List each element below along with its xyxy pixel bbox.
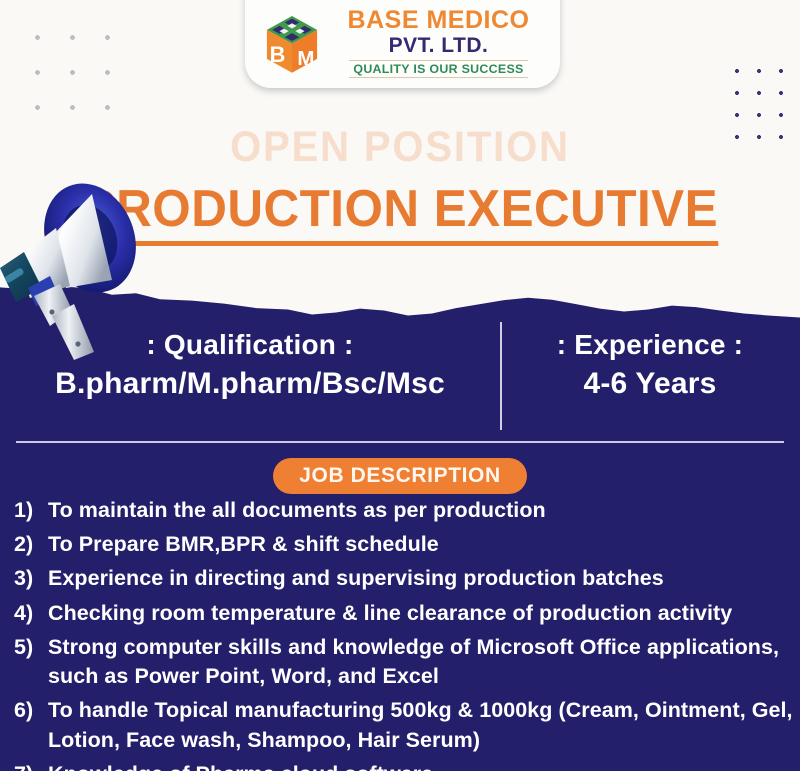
company-name-line1: BASE MEDICO [348, 8, 530, 34]
decorative-dot-grid-left [14, 14, 134, 124]
experience-column: : Experience : 4-6 Years [500, 320, 800, 404]
column-divider [500, 322, 502, 430]
list-item: 1)To maintain the all documents as per p… [14, 496, 794, 525]
list-item-text: Experience in directing and supervising … [48, 564, 794, 593]
requirements-row: : Qualification : B.pharm/M.pharm/Bsc/Ms… [0, 320, 800, 425]
list-item-number: 1) [14, 496, 48, 525]
list-item: 4)Checking room temperature & line clear… [14, 599, 794, 628]
list-item: 7)Knowledge of Pharma cloud software [14, 760, 794, 771]
job-description-badge-wrap: JOB DESCRIPTION [0, 458, 800, 494]
isometric-cube-bm-icon: B M [259, 12, 325, 78]
list-item-number: 6) [14, 696, 48, 754]
list-item-text: Knowledge of Pharma cloud software [48, 760, 794, 771]
list-item-number: 7) [14, 760, 48, 771]
list-item: 5)Strong computer skills and knowledge o… [14, 633, 794, 691]
svg-text:M: M [297, 47, 314, 70]
qualification-value: B.pharm/M.pharm/Bsc/Msc [0, 364, 500, 405]
qualification-label: : Qualification : [0, 326, 500, 364]
company-name-line2: PVT. LTD. [389, 34, 489, 57]
list-item-number: 3) [14, 564, 48, 593]
company-logo-text: BASE MEDICO PVT. LTD. QUALITY IS OUR SUC… [331, 8, 546, 80]
list-item-number: 5) [14, 633, 48, 691]
job-posting-poster: B M BASE MEDICO PVT. LTD. QUALITY IS OUR… [0, 0, 800, 771]
list-item-number: 4) [14, 599, 48, 628]
experience-label: : Experience : [500, 326, 800, 364]
list-item: 2)To Prepare BMR,BPR & shift schedule [14, 530, 794, 559]
company-tagline: QUALITY IS OUR SUCCESS [349, 60, 527, 78]
list-item-number: 2) [14, 530, 48, 559]
status-badge: JOB DESCRIPTION [273, 458, 527, 494]
qualification-column: : Qualification : B.pharm/M.pharm/Bsc/Ms… [0, 320, 500, 404]
list-item-text: To maintain the all documents as per pro… [48, 496, 794, 525]
list-item: 6)To handle Topical manufacturing 500kg … [14, 696, 794, 754]
role-title-text: PRODUCTION EXECUTIVE [82, 182, 717, 246]
eyebrow-open-position: OPEN POSITION [28, 126, 772, 169]
horizontal-rule [16, 441, 784, 443]
experience-value: 4-6 Years [500, 364, 800, 405]
list-item: 3)Experience in directing and supervisin… [14, 564, 794, 593]
list-item-text: Strong computer skills and knowledge of … [48, 633, 794, 691]
list-item-text: Checking room temperature & line clearan… [48, 599, 794, 628]
svg-text:B: B [270, 42, 286, 67]
company-logo-card: B M BASE MEDICO PVT. LTD. QUALITY IS OUR… [245, 0, 560, 88]
list-item-text: To Prepare BMR,BPR & shift schedule [48, 530, 794, 559]
list-item-text: To handle Topical manufacturing 500kg & … [48, 696, 794, 754]
job-description-list: 1)To maintain the all documents as per p… [14, 496, 794, 771]
